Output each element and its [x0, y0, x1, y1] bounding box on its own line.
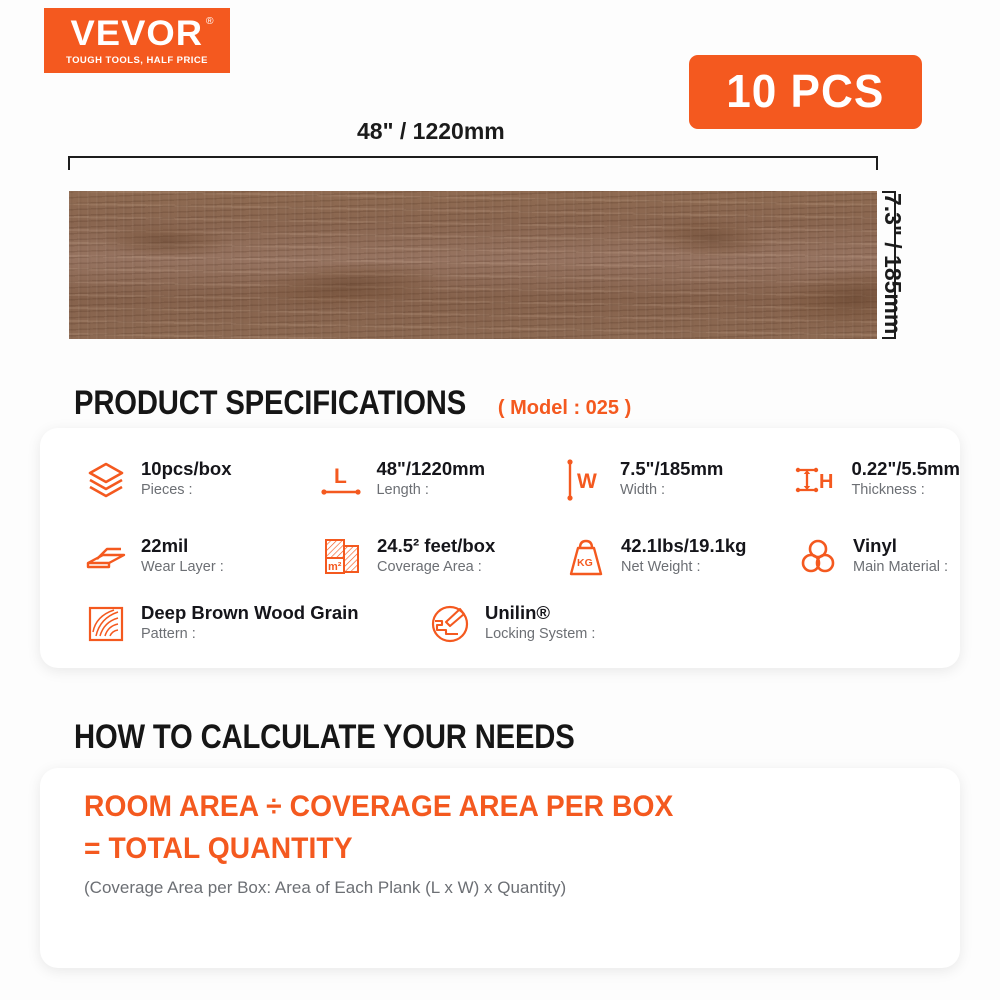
- spec-label: Main Material :: [853, 558, 948, 578]
- spec-label: Wear Layer :: [141, 558, 224, 578]
- width-w-icon: W: [561, 456, 609, 504]
- brand-name: VEVOR®: [71, 16, 204, 51]
- spec-value: 22mil: [141, 536, 224, 557]
- wood-grain-knot: [777, 260, 877, 335]
- spec-value: 7.5"/185mm: [620, 459, 723, 480]
- plank-diagram: 48" / 1220mm 7.3" / 185mm: [0, 118, 1000, 368]
- spec-label: Pattern :: [141, 625, 359, 645]
- spec-value: 48"/1220mm: [376, 459, 485, 480]
- spec-item-width: W 7.5"/185mm Width :: [561, 456, 800, 504]
- svg-text:KG: KG: [577, 557, 593, 569]
- calc-heading: HOW TO CALCULATE YOUR NEEDS: [74, 718, 656, 757]
- layers-icon: [82, 456, 130, 504]
- spec-value: 0.22"/5.5mm: [851, 459, 960, 480]
- length-dimension-bracket: [68, 156, 878, 170]
- specs-model: ( Model : 025 ): [498, 397, 631, 420]
- spec-label: Thickness :: [851, 481, 960, 501]
- spec-label: Width :: [620, 481, 723, 501]
- spec-item-wear-layer: 22mil Wear Layer :: [82, 533, 322, 581]
- spec-item-main-material: Vinyl Main Material :: [794, 533, 948, 581]
- spec-item-pieces: 10pcs/box Pieces :: [82, 456, 321, 504]
- formula-line-2: = TOTAL QUANTITY: [84, 832, 353, 866]
- spec-label: Coverage Area :: [377, 558, 495, 578]
- wood-grain-knot: [650, 213, 772, 261]
- spec-label: Pieces :: [141, 481, 232, 501]
- spec-value: 10pcs/box: [141, 459, 232, 480]
- area-m2-icon: m²: [318, 533, 366, 581]
- locking-system-icon: [426, 600, 474, 648]
- formula-note: (Coverage Area per Box: Area of Each Pla…: [84, 878, 566, 898]
- svg-text:L: L: [334, 465, 347, 488]
- spec-label: Locking System :: [485, 625, 595, 645]
- specs-heading: PRODUCT SPECIFICATIONS ( Model : 025 ): [74, 384, 631, 423]
- wood-grain-knot: [254, 257, 446, 313]
- registered-mark: ®: [206, 17, 215, 27]
- width-dimension-label: 7.3" / 185mm: [879, 193, 906, 334]
- brand-name-text: VEVOR: [71, 14, 204, 53]
- pieces-count-text: 10 PCS: [727, 68, 885, 114]
- spec-value: 24.5² feet/box: [377, 536, 495, 557]
- formula-line-1: ROOM AREA ÷ COVERAGE AREA PER BOX: [84, 790, 673, 824]
- spec-item-pattern: Deep Brown Wood Grain Pattern :: [82, 600, 430, 648]
- spec-item-net-weight: KG 42.1lbs/19.1kg Net Weight :: [562, 533, 802, 581]
- spec-item-coverage-area: m² 24.5² feet/box Coverage Area :: [318, 533, 568, 581]
- spec-value: Vinyl: [853, 536, 948, 557]
- spec-label: Net Weight :: [621, 558, 746, 578]
- wear-layer-icon: [82, 533, 130, 581]
- length-dimension-label: 48" / 1220mm: [357, 118, 505, 145]
- length-l-icon: L: [317, 456, 365, 504]
- specs-title: PRODUCT SPECIFICATIONS: [74, 384, 466, 423]
- svg-text:m²: m²: [328, 561, 342, 573]
- weight-kg-icon: KG: [562, 533, 610, 581]
- spec-item-locking-system: Unilin® Locking System :: [426, 600, 595, 648]
- spec-item-length: L 48"/1220mm Length :: [317, 456, 566, 504]
- calc-title: HOW TO CALCULATE YOUR NEEDS: [74, 718, 575, 757]
- specifications-card: 10pcs/box Pieces : L 48"/1220mm Length :: [40, 428, 960, 668]
- thickness-h-icon: H: [792, 456, 840, 504]
- vinyl-plank-image: [69, 191, 877, 339]
- vevor-logo: VEVOR® TOUGH TOOLS, HALF PRICE: [44, 8, 230, 73]
- spec-value: Deep Brown Wood Grain: [141, 603, 359, 624]
- spec-value: Unilin®: [485, 603, 595, 624]
- svg-text:H: H: [819, 471, 833, 493]
- brand-tagline: TOUGH TOOLS, HALF PRICE: [66, 55, 208, 66]
- spec-label: Length :: [376, 481, 485, 501]
- wood-grain-icon: [82, 600, 130, 648]
- material-circles-icon: [794, 533, 842, 581]
- svg-text:W: W: [577, 470, 597, 493]
- spec-item-thickness: H 0.22"/5.5mm Thickness :: [792, 456, 960, 504]
- wood-grain-knot: [101, 221, 232, 260]
- spec-value: 42.1lbs/19.1kg: [621, 536, 746, 557]
